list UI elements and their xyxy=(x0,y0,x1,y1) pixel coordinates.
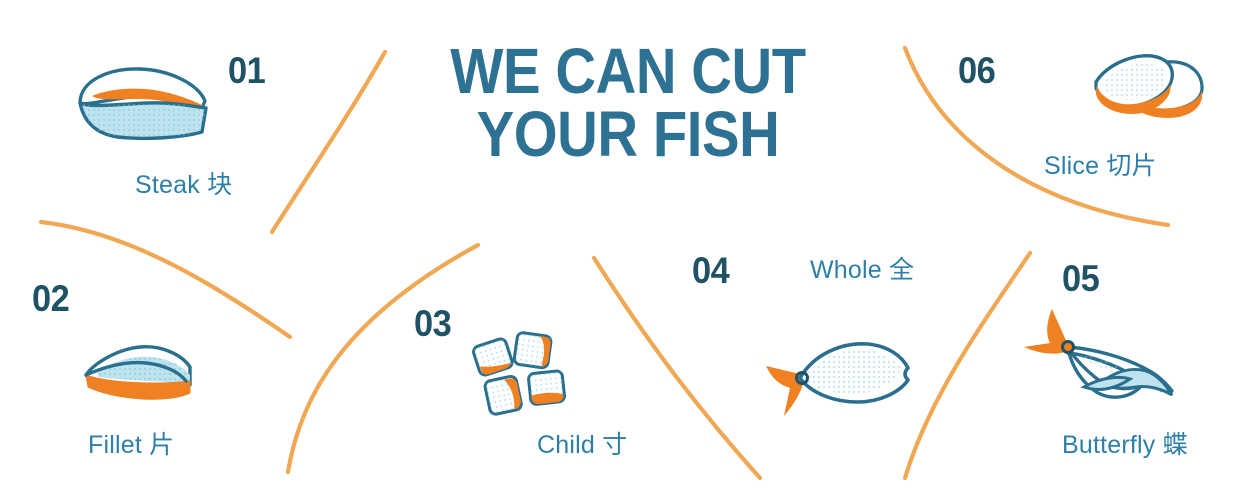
item-number-02: 02 xyxy=(32,278,69,320)
item-number-06: 06 xyxy=(958,50,995,92)
fish-fillet-icon xyxy=(78,337,203,409)
connector-curve-1 xyxy=(272,52,385,232)
item-label-03: Child 寸 xyxy=(537,425,627,461)
fish-slices-icon xyxy=(1090,48,1210,128)
item-number-04: 04 xyxy=(692,250,729,292)
fish-steak-icon xyxy=(62,58,212,150)
item-label-01: Steak 块 xyxy=(135,165,232,201)
connector-curve-6 xyxy=(905,253,1030,478)
item-number-03: 03 xyxy=(414,303,451,345)
infographic-canvas: WE CAN CUT YOUR FISH 01 Steak 块 02 xyxy=(0,0,1256,494)
item-label-06: Slice 切片 xyxy=(1044,146,1157,182)
connector-curve-3 xyxy=(288,245,478,472)
whole-fish-icon xyxy=(762,330,922,420)
item-number-05: 05 xyxy=(1062,258,1099,300)
butterfly-fish-icon xyxy=(1024,305,1196,415)
item-number-01: 01 xyxy=(228,50,265,92)
page-title: WE CAN CUT YOUR FISH xyxy=(427,40,828,165)
connector-curve-2 xyxy=(41,222,290,337)
fish-cubes-icon xyxy=(466,330,586,425)
item-label-02: Fillet 片 xyxy=(88,425,174,461)
item-label-04: Whole 全 xyxy=(810,250,914,286)
item-label-05: Butterfly 蝶 xyxy=(1062,425,1188,461)
